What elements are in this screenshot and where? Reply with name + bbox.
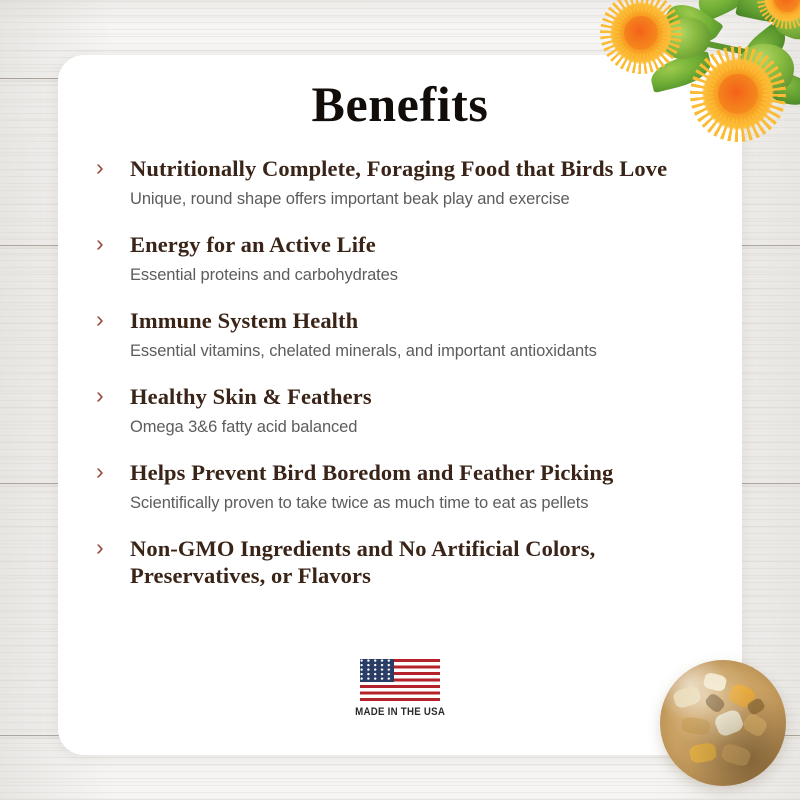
- benefits-list: › Nutritionally Complete, Foraging Food …: [94, 155, 718, 607]
- benefit-item: › Immune System Health Essential vitamin…: [94, 307, 718, 362]
- safflower-bloom: [610, 2, 672, 64]
- benefit-subtext: Essential proteins and carbohydrates: [130, 264, 718, 286]
- chevron-right-icon: ›: [96, 382, 104, 408]
- usa-flag-icon: MADE IN THE USA: [349, 659, 451, 718]
- flag-stars: [360, 659, 394, 682]
- chevron-right-icon: ›: [96, 154, 104, 180]
- benefit-item: › Nutritionally Complete, Foraging Food …: [94, 155, 718, 210]
- benefit-item: › Healthy Skin & Feathers Omega 3&6 fatt…: [94, 383, 718, 438]
- benefit-heading: Immune System Health: [130, 307, 718, 334]
- flag-graphic: [360, 659, 440, 701]
- benefit-heading: Healthy Skin & Feathers: [130, 383, 718, 410]
- benefit-item: › Non-GMO Ingredients and No Artificial …: [94, 535, 718, 589]
- product-benefits-infographic: Benefits › Nutritionally Complete, Forag…: [0, 0, 800, 800]
- flag-canton: [360, 659, 394, 682]
- benefit-subtext: Omega 3&6 fatty acid balanced: [130, 416, 718, 438]
- chevron-right-icon: ›: [96, 458, 104, 484]
- benefit-heading: Non-GMO Ingredients and No Artificial Co…: [130, 535, 650, 589]
- benefit-subtext: Essential vitamins, chelated minerals, a…: [130, 340, 718, 362]
- chevron-right-icon: ›: [96, 534, 104, 560]
- ball-shading: [660, 660, 786, 786]
- benefit-heading: Energy for an Active Life: [130, 231, 718, 258]
- benefit-heading: Nutritionally Complete, Foraging Food th…: [130, 155, 718, 182]
- benefit-heading: Helps Prevent Bird Boredom and Feather P…: [130, 459, 718, 486]
- chevron-right-icon: ›: [96, 230, 104, 256]
- benefit-item: › Energy for an Active Life Essential pr…: [94, 231, 718, 286]
- benefits-card: Benefits › Nutritionally Complete, Forag…: [58, 55, 742, 755]
- benefit-subtext: Scientifically proven to take twice as m…: [130, 492, 718, 514]
- made-in-usa-badge: MADE IN THE USA: [58, 659, 742, 720]
- benefit-item: › Helps Prevent Bird Boredom and Feather…: [94, 459, 718, 514]
- chevron-right-icon: ›: [96, 306, 104, 332]
- made-in-usa-label: MADE IN THE USA: [355, 706, 445, 718]
- benefit-subtext: Unique, round shape offers important bea…: [130, 188, 718, 210]
- safflower-decoration: [588, 0, 800, 154]
- bird-food-seed-ball: [660, 660, 786, 786]
- safflower-bloom: [702, 58, 774, 130]
- safflower-bloom: [764, 0, 800, 22]
